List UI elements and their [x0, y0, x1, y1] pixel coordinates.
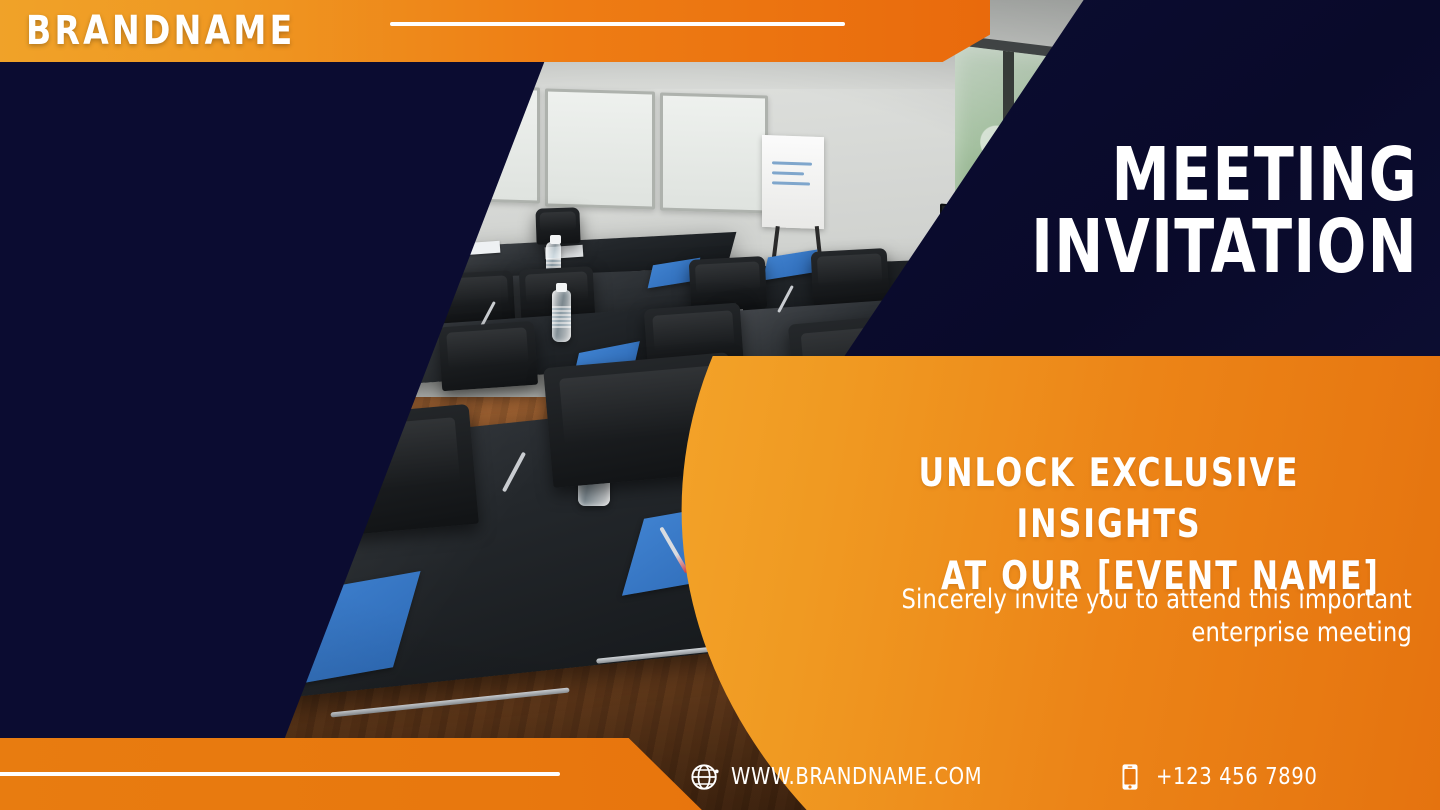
website-contact[interactable]: WWW.BRANDNAME.COM [690, 762, 995, 792]
phone-icon [1115, 762, 1145, 792]
page-title: MEETING INVITATION [890, 140, 1418, 284]
subtitle: Sincerely invite you to attend this impo… [814, 583, 1413, 650]
left-navy-diagonal-stripe [0, 40, 553, 810]
headline: UNLOCK EXCLUSIVE INSIGHTS AT OUR [EVENT … [835, 448, 1384, 602]
footer-accent-line [0, 772, 560, 776]
phone-contact[interactable]: +123 456 7890 [1115, 762, 1326, 792]
graphic-overlay [0, 0, 1440, 810]
header-accent-line [390, 22, 845, 26]
title-line-2: INVITATION [890, 212, 1418, 284]
globe-icon [690, 762, 720, 792]
subtitle-line-2: enterprise meeting [1191, 617, 1412, 648]
meeting-invitation-poster: BRANDNAME MEETING INVITATION UNLOCK EXCL… [0, 0, 1440, 810]
footer-band [0, 738, 710, 810]
subtitle-line-1: Sincerely invite you to attend this impo… [901, 584, 1412, 615]
website-text: WWW.BRANDNAME.COM [731, 764, 982, 790]
phone-text: +123 456 7890 [1156, 764, 1317, 790]
contact-bar: WWW.BRANDNAME.COM +123 456 7890 [690, 762, 1326, 792]
headline-line-1: UNLOCK EXCLUSIVE INSIGHTS [919, 451, 1300, 547]
brand-logo-text: BRANDNAME [26, 11, 295, 51]
